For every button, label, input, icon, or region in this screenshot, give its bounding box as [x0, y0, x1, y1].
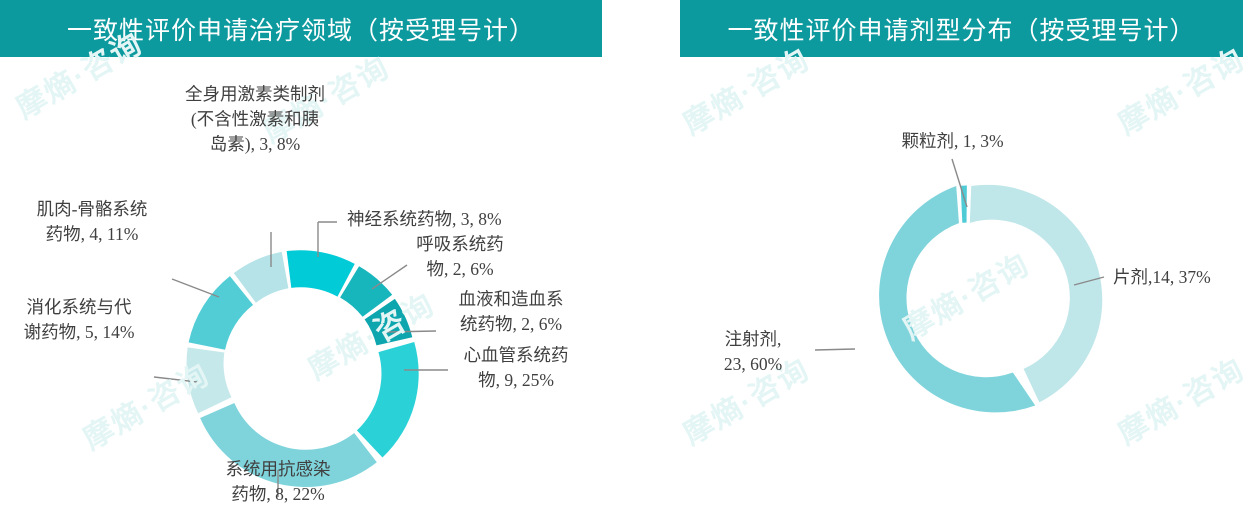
- label-respiratory-line2: 物, 2, 6%: [395, 257, 525, 282]
- label-respiratory-line1: 呼吸系统药: [395, 232, 525, 257]
- leader-line-injection: [815, 349, 855, 350]
- label-musculoskeletal: 肌肉-骨骼系统 药物, 4, 11%: [12, 197, 172, 247]
- label-digestive-line1: 消化系统与代: [5, 295, 153, 320]
- label-injection-line2: 23, 60%: [694, 352, 812, 377]
- label-respiratory: 呼吸系统药 物, 2, 6%: [395, 232, 525, 282]
- label-hormone-line2: (不含性激素和胰: [130, 107, 380, 132]
- label-blood-line2: 统药物, 2, 6%: [435, 312, 587, 337]
- left-chart-panel: 一致性评价申请治疗领域（按受理号计） 摩熵·咨询 摩熵·咨询 摩熵·咨询 摩熵·…: [0, 0, 602, 521]
- label-injection-line1: 注射剂,: [694, 327, 812, 352]
- label-musculoskeletal-line2: 药物, 4, 11%: [12, 222, 172, 247]
- left-chart-area: 摩熵·咨询 摩熵·咨询 摩熵·咨询 摩熵·咨询: [0, 57, 602, 521]
- donut-segments: [879, 185, 1102, 413]
- left-panel-title-bar: 一致性评价申请治疗领域（按受理号计）: [0, 0, 602, 57]
- label-musculoskeletal-line1: 肌肉-骨骼系统: [12, 197, 172, 222]
- label-granule-line1: 颗粒剂, 1, 3%: [870, 129, 1035, 154]
- label-digestive: 消化系统与代 谢药物, 5, 14%: [5, 295, 153, 345]
- label-granule: 颗粒剂, 1, 3%: [870, 129, 1035, 154]
- segment-cardiovascular[interactable]: [357, 342, 419, 457]
- label-digestive-line2: 谢药物, 5, 14%: [5, 320, 153, 345]
- label-tablet-line1: 片剂,14, 37%: [1113, 265, 1211, 290]
- label-cardiovascular: 心血管系统药 物, 9, 25%: [445, 343, 587, 393]
- right-chart-panel: 一致性评价申请剂型分布（按受理号计） 摩熵·咨询 摩熵·咨询 摩熵·咨询 摩熵·…: [680, 0, 1243, 521]
- label-hormone-line3: 岛素), 3, 8%: [130, 132, 380, 157]
- segment-nervous[interactable]: [287, 250, 355, 296]
- segment-musculoskeletal[interactable]: [189, 276, 253, 350]
- label-nervous-line1: 神经系统药物, 3, 8%: [347, 207, 502, 232]
- right-panel-title-bar: 一致性评价申请剂型分布（按受理号计）: [680, 0, 1243, 57]
- label-nervous: 神经系统药物, 3, 8%: [347, 207, 502, 232]
- label-injection: 注射剂, 23, 60%: [694, 327, 812, 377]
- label-blood: 血液和造血系 统药物, 2, 6%: [435, 287, 587, 337]
- leader-line-blood: [387, 331, 436, 332]
- segment-digestive[interactable]: [187, 347, 232, 413]
- right-panel-title: 一致性评价申请剂型分布（按受理号计）: [727, 11, 1195, 47]
- label-hormone-line1: 全身用激素类制剂: [130, 82, 380, 107]
- label-tablet: 片剂,14, 37%: [1113, 265, 1211, 290]
- label-antiinfective: 系统用抗感染 药物, 8, 22%: [163, 457, 393, 507]
- left-panel-title: 一致性评价申请治疗领域（按受理号计）: [67, 11, 535, 47]
- label-hormone: 全身用激素类制剂 (不含性激素和胰 岛素), 3, 8%: [130, 82, 380, 157]
- leader-line-musculoskeletal: [172, 279, 219, 297]
- label-antiinfective-line1: 系统用抗感染: [163, 457, 393, 482]
- label-cardiovascular-line2: 物, 9, 25%: [445, 368, 587, 393]
- right-chart-area: 摩熵·咨询 摩熵·咨询 摩熵·咨询 摩熵·咨询 摩熵·咨询 颗粒剂, 1, 3%: [680, 57, 1243, 521]
- segment-tablet[interactable]: [970, 185, 1102, 403]
- label-cardiovascular-line1: 心血管系统药: [445, 343, 587, 368]
- label-blood-line1: 血液和造血系: [435, 287, 587, 312]
- donut-segments: [187, 250, 419, 487]
- label-antiinfective-line2: 药物, 8, 22%: [163, 482, 393, 507]
